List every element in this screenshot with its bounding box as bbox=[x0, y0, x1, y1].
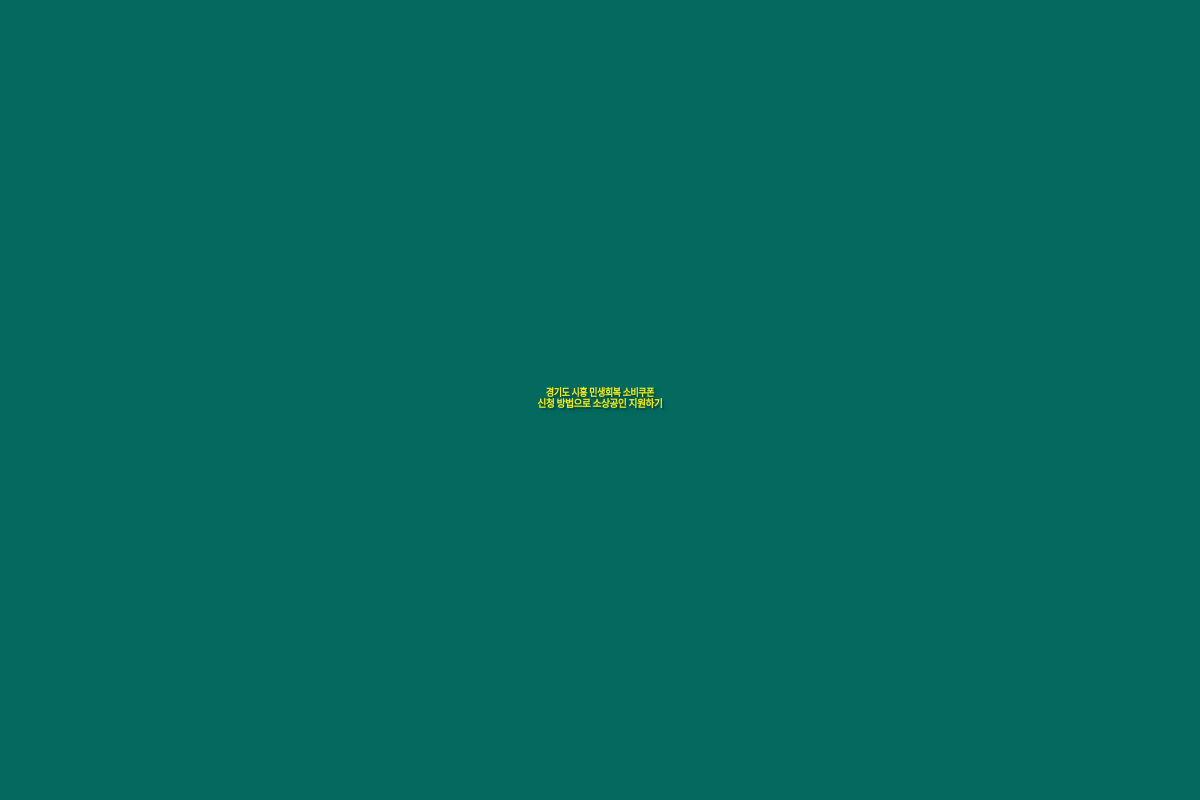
headline-block: 경기도 시흥 민생회복 소비쿠폰 신청 방법으로 소상공인 지원하기 bbox=[0, 388, 1200, 410]
headline-line-2: 신청 방법으로 소상공인 지원하기 bbox=[35, 399, 1165, 410]
thumbnail-card: 경기도 시흥 민생회복 소비쿠폰 신청 방법으로 소상공인 지원하기 bbox=[0, 0, 1200, 800]
headline-line-1: 경기도 시흥 민생회복 소비쿠폰 bbox=[75, 388, 1125, 399]
